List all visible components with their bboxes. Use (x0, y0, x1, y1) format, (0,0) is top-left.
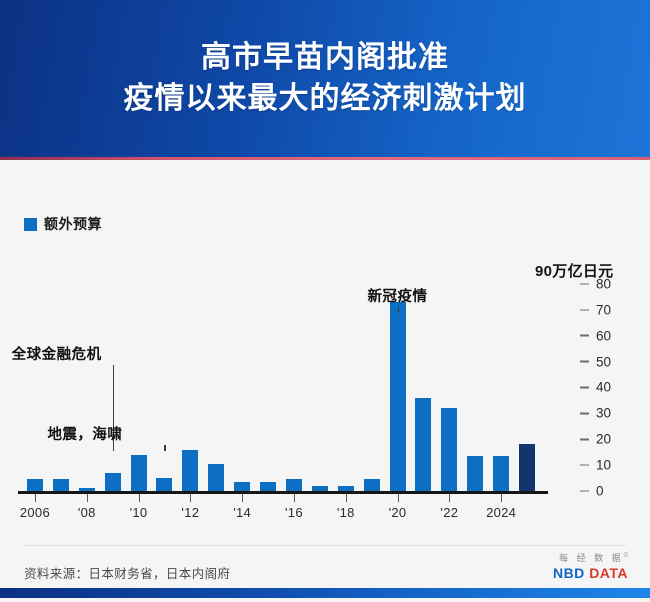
x-tick-2022 (449, 494, 450, 502)
bar-2020 (390, 302, 406, 491)
annotation-label-2020: 新冠疫情 (368, 285, 428, 306)
x-tick-label-2016: '16 (285, 505, 303, 520)
bar-2021 (415, 398, 431, 491)
x-tick-2016 (294, 494, 295, 502)
y-tick-70: 70 (580, 302, 611, 317)
bar-2025 (519, 444, 535, 491)
y-tick-dash-icon (580, 438, 589, 440)
chart-panel: 额外预算 2006'08'10'12'14'16'18'20'222024 全球… (0, 160, 650, 545)
page-title-line-1: 高市早苗内阁批准 (201, 41, 449, 76)
x-tick-2014 (242, 494, 243, 502)
header-banner: 高市早苗内阁批准 疫情以来最大的经济刺激计划 (0, 0, 650, 160)
x-tick-label-2022: '22 (440, 505, 458, 520)
y-tick-label-0: 0 (596, 484, 604, 499)
y-tick-label-10: 10 (596, 458, 611, 473)
y-tick-60: 60 (580, 328, 611, 343)
y-tick-80: 80 (580, 276, 611, 291)
x-tick-2010 (139, 494, 140, 502)
bar-2014 (234, 482, 250, 491)
x-tick-2006 (35, 494, 36, 502)
bar-2007 (53, 479, 69, 491)
y-tick-label-80: 80 (596, 276, 611, 291)
bar-2010 (131, 455, 147, 491)
bar-2011 (156, 478, 172, 491)
x-tick-label-2014: '14 (233, 505, 251, 520)
y-tick-dash-icon (580, 309, 589, 311)
page-title-line-2: 疫情以来最大的经济刺激计划 (124, 82, 527, 117)
bar-2024 (493, 456, 509, 491)
brand-english-label: NBD DATA (553, 565, 628, 583)
infographic-page: 高市早苗内阁批准 疫情以来最大的经济刺激计划 额外预算 2006'08'10'1… (0, 0, 650, 602)
brand-data-text: DATA (589, 565, 628, 581)
x-tick-2020 (398, 494, 399, 502)
y-tick-label-30: 30 (596, 406, 611, 421)
y-axis: 90万亿日元 01020304050607080 (580, 160, 650, 545)
plot-area (22, 271, 540, 491)
brand-logo: 每 经 数 据© NBD DATA (553, 553, 628, 582)
bar-chart: 2006'08'10'12'14'16'18'20'222024 全球金融危机地… (0, 160, 650, 545)
y-tick-0: 0 (580, 484, 604, 499)
x-tick-label-2006: 2006 (20, 505, 50, 520)
bar-2019 (364, 479, 380, 491)
y-tick-dash-icon (580, 490, 589, 492)
y-tick-dash-icon (580, 283, 589, 285)
x-tick-label-2024: 2024 (486, 505, 516, 520)
x-tick-2018 (346, 494, 347, 502)
y-tick-40: 40 (580, 380, 611, 395)
source-note: 资料来源：日本财务省，日本内阁府 (24, 563, 230, 582)
x-tick-label-2010: '10 (130, 505, 148, 520)
bar-2013 (208, 464, 224, 491)
y-tick-dash-icon (580, 387, 589, 389)
bar-2023 (467, 456, 483, 491)
y-tick-label-20: 20 (596, 432, 611, 447)
brand-chinese-label: 每 经 数 据© (553, 553, 628, 565)
header-title-block: 高市早苗内阁批准 疫情以来最大的经济刺激计划 (0, 0, 650, 157)
bar-2009 (105, 473, 121, 491)
x-tick-2024 (501, 494, 502, 502)
bar-2006 (27, 479, 43, 491)
x-tick-label-2008: '08 (78, 505, 96, 520)
y-tick-label-40: 40 (596, 380, 611, 395)
annotation-leader-line-2020 (398, 307, 399, 313)
x-tick-2012 (190, 494, 191, 502)
x-tick-2008 (87, 494, 88, 502)
annotation-label-2009: 全球金融危机 (12, 343, 102, 364)
y-tick-dash-icon (580, 413, 589, 415)
y-tick-label-60: 60 (596, 328, 611, 343)
x-tick-label-2018: '18 (337, 505, 355, 520)
y-tick-10: 10 (580, 458, 611, 473)
y-tick-50: 50 (580, 354, 611, 369)
y-tick-dash-icon (580, 464, 589, 466)
brand-nbd-text: NBD (553, 565, 585, 581)
annotation-label-2011: 地震，海啸 (47, 423, 122, 444)
bottom-accent-bar (0, 588, 650, 598)
bar-2012 (182, 450, 198, 491)
y-tick-dash-icon (580, 335, 589, 337)
y-tick-label-70: 70 (596, 302, 611, 317)
y-tick-dash-icon (580, 361, 589, 363)
annotation-leader-line-2011 (164, 445, 165, 451)
x-axis-baseline (18, 491, 548, 494)
bar-2022 (441, 408, 457, 491)
x-tick-label-2020: '20 (389, 505, 407, 520)
y-tick-label-50: 50 (596, 354, 611, 369)
y-tick-20: 20 (580, 432, 611, 447)
bar-2016 (286, 479, 302, 491)
y-tick-30: 30 (580, 406, 611, 421)
bar-2015 (260, 482, 276, 491)
x-tick-label-2012: '12 (181, 505, 199, 520)
